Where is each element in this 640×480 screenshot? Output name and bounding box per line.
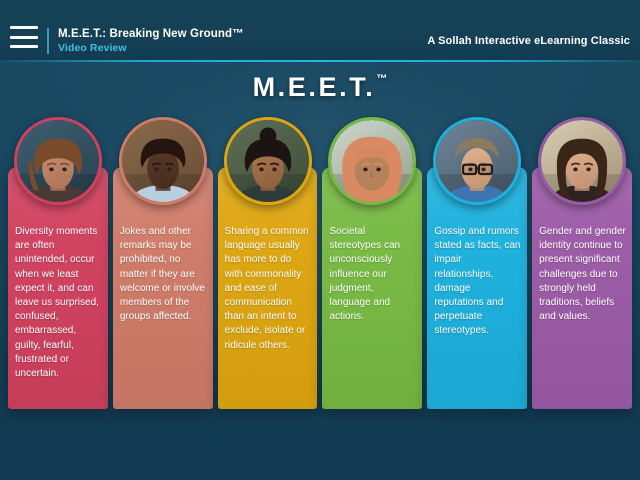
header-accent-line — [0, 60, 640, 62]
portrait-photo — [227, 120, 309, 202]
portrait-woman-2 — [224, 117, 312, 205]
panel-societal-stereotypes[interactable]: Societal stereotypes can unconsciously i… — [322, 167, 422, 409]
panel-gender-identity[interactable]: Gender and gender identity continue to p… — [532, 167, 632, 409]
portrait-photo — [436, 120, 518, 202]
slide-canvas: M.E.E.T.: Breaking New Ground™ Video Rev… — [0, 0, 640, 480]
hamburger-bar-2 — [10, 36, 38, 39]
panel-common-language[interactable]: Sharing a common language usually has mo… — [218, 167, 318, 409]
panel-body-text: Gender and gender identity continue to p… — [539, 225, 626, 324]
brand-tagline: A Sollah Interactive eLearning Classic — [427, 35, 630, 47]
portrait-woman-3 — [328, 117, 416, 205]
header-divider — [47, 28, 49, 54]
concept-panel-row: Diversity moments are often unintended, … — [8, 167, 632, 409]
top-header-bar: M.E.E.T.: Breaking New Ground™ Video Rev… — [0, 0, 640, 61]
header-title-block: M.E.E.T.: Breaking New Ground™ Video Rev… — [58, 28, 244, 54]
panel-diversity-moments[interactable]: Diversity moments are often unintended, … — [8, 167, 108, 409]
course-title: M.E.E.T.: Breaking New Ground™ — [58, 28, 244, 42]
panel-body-text: Jokes and other remarks may be prohibite… — [120, 225, 207, 324]
portrait-photo — [17, 120, 99, 202]
hamburger-bar-1 — [10, 26, 38, 29]
portrait-photo — [331, 120, 413, 202]
panel-body-text: Societal stereotypes can unconsciously i… — [329, 225, 416, 324]
trademark-symbol: ™ — [376, 73, 387, 85]
portrait-photo — [541, 120, 623, 202]
portrait-man-2 — [433, 117, 521, 205]
panel-body-text: Diversity moments are often unintended, … — [15, 225, 102, 381]
hamburger-bar-3 — [10, 45, 38, 48]
panel-body-text: Sharing a common language usually has mo… — [225, 225, 312, 353]
page-title-text: M.E.E.T. — [253, 72, 376, 102]
panel-gossip-rumors[interactable]: Gossip and rumors stated as facts, can i… — [427, 167, 527, 409]
portrait-woman-1 — [14, 117, 102, 205]
course-subtitle[interactable]: Video Review — [58, 42, 244, 54]
page-title: M.E.E.T.™ — [0, 72, 640, 103]
portrait-photo — [122, 120, 204, 202]
hamburger-menu-icon[interactable] — [10, 26, 38, 48]
panel-body-text: Gossip and rumors stated as facts, can i… — [434, 225, 521, 339]
portrait-man-1 — [119, 117, 207, 205]
panel-jokes-remarks[interactable]: Jokes and other remarks may be prohibite… — [113, 167, 213, 409]
portrait-woman-4 — [538, 117, 626, 205]
